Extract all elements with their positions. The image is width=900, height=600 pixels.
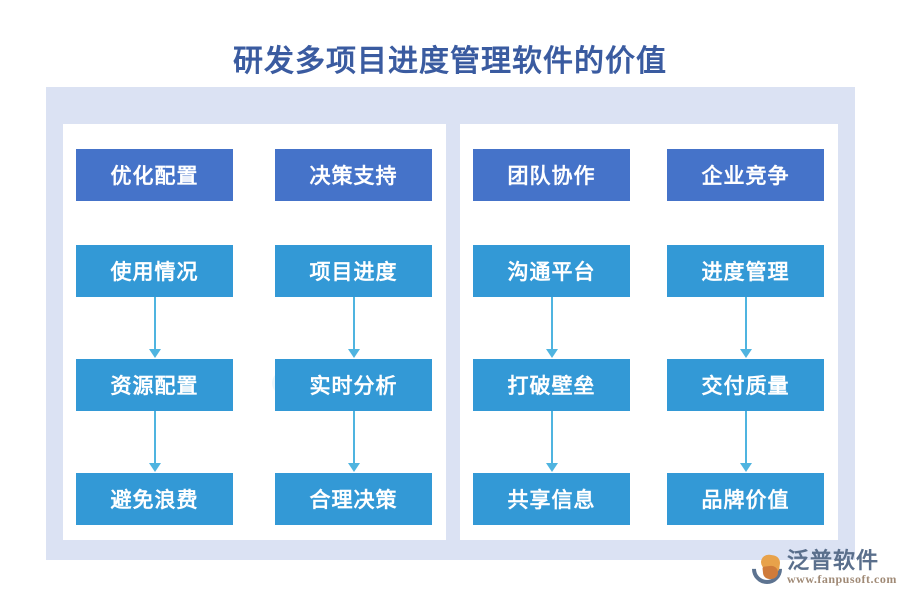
brand-url: www.fanpusoft.com [787, 572, 897, 586]
panel-left [63, 124, 446, 540]
brand-mark-icon [752, 553, 782, 583]
page-title: 研发多项目进度管理软件的价值 [0, 36, 900, 80]
brand-logo: 泛普软件 www.fanpusoft.com [752, 545, 892, 591]
panel-right [460, 124, 838, 540]
brand-name: 泛普软件 [787, 549, 897, 572]
